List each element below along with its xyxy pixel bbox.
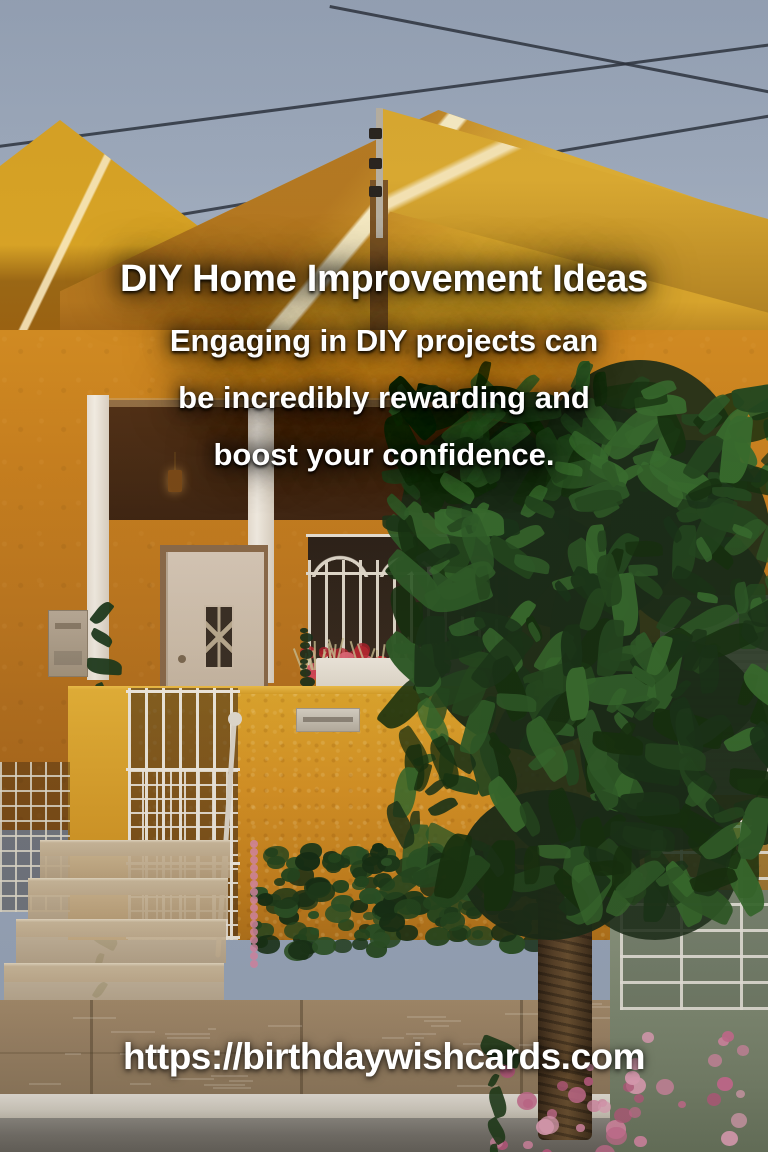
hedge-flower [250, 864, 258, 872]
hedge-leaf [288, 940, 314, 960]
sidewalk-speckle [29, 1083, 62, 1085]
sidewalk-speckle [111, 1031, 155, 1033]
step-riser [28, 895, 228, 919]
pink-flower [568, 1087, 586, 1103]
pink-flower [629, 1107, 641, 1118]
pink-flower [678, 1101, 686, 1108]
hedge-flower [250, 928, 258, 936]
left-potted-plant [96, 600, 188, 690]
hedge-flower [250, 888, 258, 896]
insulator [369, 158, 382, 169]
step-tread [16, 919, 226, 937]
hedge-leaf [312, 937, 336, 955]
url-bar: https://birthdaywishcards.com [0, 1036, 768, 1078]
hedge-leaf [354, 876, 369, 887]
pink-flower [576, 1124, 584, 1131]
pink-flower [557, 1081, 568, 1091]
wall-mail-slot [296, 708, 360, 732]
pink-flower [584, 1077, 594, 1086]
tree-leaf [428, 794, 459, 819]
hedge-flower [250, 920, 258, 928]
door-glass-panel [204, 605, 234, 669]
hedge-leaf [284, 922, 307, 939]
pink-flower [656, 1079, 674, 1095]
pink-flower [731, 1113, 747, 1128]
poster-image: DIY Home Improvement Ideas Engaging in D… [0, 0, 768, 1152]
step-riser [40, 856, 230, 878]
hedge-leaf [257, 893, 274, 905]
hedge-leaf [370, 932, 391, 947]
pink-flower [517, 1092, 537, 1110]
hedge-leaf [308, 911, 319, 919]
sidewalk-speckle [229, 1080, 253, 1082]
hedge-leaf [352, 938, 368, 950]
pink-flower [717, 1077, 732, 1091]
hedge-leaf [255, 935, 280, 954]
pink-flower [595, 1145, 615, 1152]
sidewalk-speckle [208, 1028, 216, 1030]
sidewalk-speckle [73, 1017, 116, 1019]
pink-flower [634, 1136, 647, 1148]
foliage [300, 649, 313, 658]
step-tread [40, 840, 230, 856]
subtitle: Engaging in DIY projects can be incredib… [0, 312, 768, 484]
sidewalk-speckle [165, 1033, 211, 1035]
hedge-leaf [295, 852, 320, 871]
handrail-knob [228, 712, 242, 726]
tree-leaf [629, 564, 658, 578]
hedge-flower [250, 952, 258, 960]
sidewalk-speckle [204, 1084, 245, 1086]
mailbox [48, 610, 88, 677]
pink-flower [634, 1094, 644, 1103]
pink-flower [736, 1090, 745, 1098]
hedge-flower [250, 904, 258, 912]
tree-leaf [625, 539, 663, 557]
tree-leaf [523, 846, 541, 885]
gate-rail [126, 690, 240, 693]
hedge-leaf [362, 894, 376, 904]
foliage-leaf [485, 1086, 509, 1120]
hedge-leaf [326, 862, 341, 873]
pink-flower [707, 1093, 721, 1106]
hedge-leaf [328, 853, 341, 863]
hedge-flower [250, 872, 258, 880]
foliage [300, 633, 313, 642]
step-tread [28, 878, 228, 895]
gate-rail [126, 768, 240, 771]
page-title: DIY Home Improvement Ideas [0, 258, 768, 302]
subtitle-line-2: be incredibly rewarding and [0, 369, 768, 426]
hedge-leaf [363, 912, 374, 921]
hedge-leaf [362, 853, 380, 866]
hedge-flower [250, 960, 258, 968]
pink-flower [523, 1141, 533, 1150]
hedge-flower [250, 912, 258, 920]
hedge-flower [250, 840, 258, 848]
hedge-leaf [372, 843, 383, 851]
pink-flower [721, 1131, 738, 1146]
hedge-leaf [396, 925, 418, 941]
sidewalk-speckle [213, 1087, 251, 1089]
hedge-flower [250, 944, 258, 952]
sidewalk-speckle [268, 1025, 302, 1027]
hedge-flower [250, 936, 258, 944]
step-tread [4, 963, 224, 982]
subtitle-line-3: boost your confidence. [0, 426, 768, 483]
hedge-flower [250, 848, 258, 856]
website-url: https://birthdaywishcards.com [123, 1036, 645, 1077]
foliage [300, 669, 311, 677]
pink-flower [606, 1127, 627, 1145]
hedge-leaf [325, 904, 351, 924]
insulator [369, 186, 382, 197]
subtitle-line-1: Engaging in DIY projects can [0, 312, 768, 369]
hedge-leaf [271, 888, 299, 909]
pink-flower [539, 1116, 560, 1135]
sidewalk-speckle [130, 1083, 151, 1085]
step-riser [16, 937, 226, 963]
pink-flower [598, 1101, 611, 1113]
hedge-flower [250, 856, 258, 864]
insulator [369, 128, 382, 139]
hedge-leaf [307, 882, 335, 903]
tree-leaf [537, 844, 571, 859]
hedge-flower [250, 880, 258, 888]
hedge-leaf [274, 878, 285, 886]
hedge-flower [250, 896, 258, 904]
text-overlay: DIY Home Improvement Ideas Engaging in D… [0, 258, 768, 484]
